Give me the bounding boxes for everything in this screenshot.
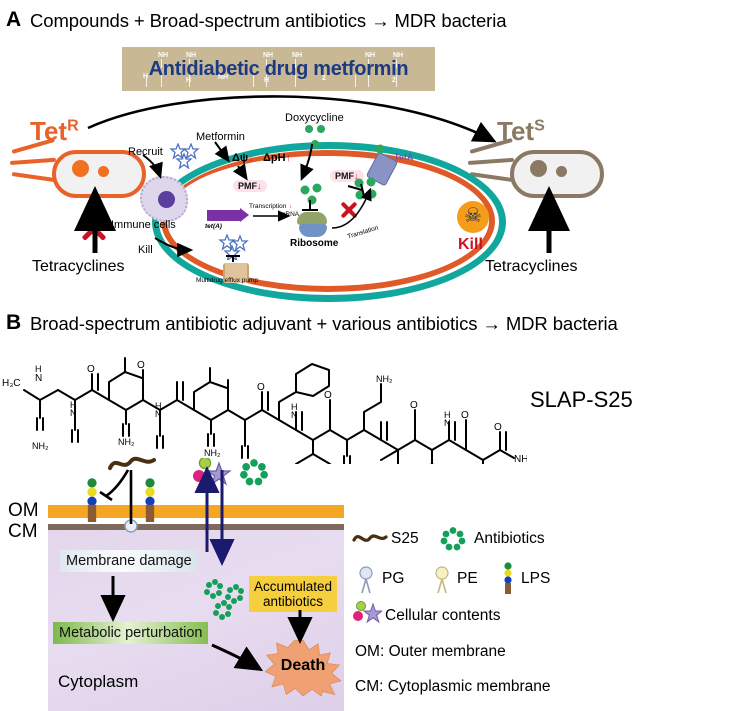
cytoplasmic-membrane-bar (48, 524, 344, 530)
pe-lipid-icon (432, 566, 452, 594)
s25-squiggle-icon (352, 528, 388, 548)
cm-label: CM (8, 521, 38, 543)
delta-ph-label: ΔpH↑ (263, 152, 291, 164)
legend-cellular-contents-label: Cellular contents (385, 607, 500, 625)
metformin-label: Metformin (196, 131, 245, 143)
metformin-banner: NH NH NH NH NH NH H H NH H 2 2 Antidiabe… (122, 47, 435, 91)
svg-text:N: N (70, 408, 77, 418)
metformin-stars-icon (169, 143, 211, 169)
cellular-contents-icon (352, 600, 382, 624)
legend-lps-label: LPS (521, 570, 550, 588)
recruit-label: Recruit (128, 146, 163, 158)
svg-text:NH₂: NH₂ (376, 374, 393, 384)
antibiotic-dots-icon (352, 176, 386, 206)
tetracyclines-label-right: Tetracyclines (485, 258, 577, 276)
cm-abbrev-label: CM: Cytoplasmic membrane (355, 678, 551, 696)
lps-icon (140, 478, 160, 522)
svg-text:O: O (461, 410, 469, 421)
transcription-label: Transcription (249, 203, 286, 210)
accumulated-line-2: antibiotics (254, 594, 332, 609)
antibiotic-ring-icon (440, 527, 466, 551)
skull-glyph: ☠ (462, 206, 484, 228)
svg-text:NH₂: NH₂ (204, 448, 221, 458)
immune-cells-label: Immune cells (111, 219, 176, 231)
metformin-banner-text: Antidiabetic drug metformin (122, 58, 435, 81)
accumulated-antibiotics-box: Accumulated antibiotics (249, 576, 337, 612)
transcription-down-arrow: ↓ (289, 203, 292, 210)
tet-r-superscript: R (67, 117, 79, 134)
svg-text:O: O (324, 390, 332, 401)
antibiotic-dots-icon (297, 183, 337, 213)
ribosome-label: Ribosome (290, 238, 338, 249)
slap-s25-structure: H₃C H N O NH₂ H N NH₂ O H N NH₂ O H N O … (2, 352, 527, 464)
kill-label-a: Kill (138, 244, 153, 256)
tet-a-gene-icon (207, 210, 241, 221)
efflux-pump-label: Multidrug efflux pump (196, 277, 258, 284)
tet-a-gene-arrowhead (240, 208, 249, 222)
legend-s25-label: S25 (391, 530, 419, 548)
svg-text:N: N (444, 418, 451, 428)
pg-lipid-icon (356, 566, 376, 594)
antibiotic-dot-icon (372, 141, 390, 159)
tetracyclines-label-left: Tetracyclines (32, 258, 124, 276)
svg-text:N: N (35, 373, 42, 384)
structure-label-h3c: H₃C (2, 378, 21, 389)
ribosome-small-subunit (299, 224, 327, 237)
svg-text:O: O (137, 360, 145, 371)
lps-icon (500, 562, 516, 596)
svg-text:O: O (257, 382, 265, 393)
delta-psi-label: Δψ↓ (232, 152, 254, 164)
svg-text:NH₂: NH₂ (32, 441, 49, 451)
tet-s-superscript: S (534, 117, 545, 134)
legend-pe-label: PE (457, 570, 478, 588)
svg-text:NH₂: NH₂ (514, 454, 527, 464)
blocked-x-icon (79, 213, 109, 243)
lps-icon (82, 478, 102, 522)
metformin-stars-icon (218, 234, 254, 260)
svg-text:O: O (410, 400, 418, 411)
panel-b-title: Broad-spectrum antibiotic adjuvant + var… (30, 313, 618, 335)
panel-a-title: Compounds + Broad-spectrum antibiotics →… (30, 10, 506, 32)
svg-text:O: O (494, 422, 502, 433)
doxycycline-label: Doxycycline (285, 112, 344, 124)
panel-b-letter: B (6, 311, 21, 335)
svg-text:N: N (155, 409, 162, 419)
svg-text:N: N (291, 410, 298, 420)
teta-label: TetA (394, 152, 413, 162)
pmf-badge-1: PMF↓ (233, 180, 267, 192)
tet-a-gene-label: tet(A) (205, 223, 222, 230)
kill-outcome-label: Kill (458, 236, 483, 254)
doxycycline-dots-icon (300, 124, 340, 164)
legend-pg-label: PG (382, 570, 404, 588)
legend-antibiotics-label: Antibiotics (474, 530, 545, 548)
death-label: Death (268, 657, 338, 675)
om-abbrev-label: OM: Outer membrane (355, 643, 506, 661)
svg-text:O: O (87, 364, 95, 375)
immune-cell-nucleus (158, 191, 175, 208)
om-label: OM (8, 500, 39, 522)
panel-a-letter: A (6, 8, 21, 32)
antibiotic-ring-icon (198, 578, 252, 626)
accumulated-line-1: Accumulated (254, 579, 332, 594)
svg-text:NH₂: NH₂ (118, 437, 135, 447)
cytoplasm-label: Cytoplasm (58, 672, 138, 692)
slap-s25-label: SLAP-S25 (530, 387, 633, 413)
metabolic-perturbation-box: Metabolic perturbation (53, 622, 208, 644)
membrane-damage-box: Membrane damage (60, 550, 198, 572)
pg-lipid-icon (123, 518, 139, 534)
